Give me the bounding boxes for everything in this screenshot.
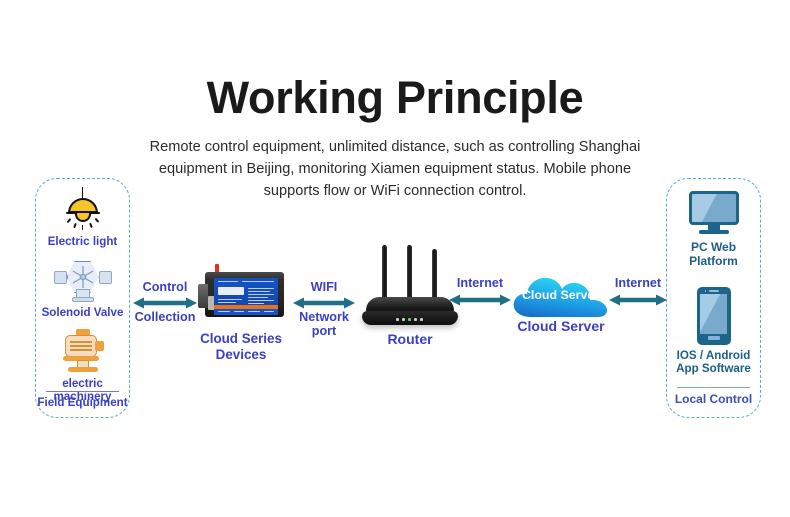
connector-top-label: WIFI [291, 280, 357, 294]
bidirectional-arrow-icon [607, 292, 669, 308]
page-subtitle: Remote control equipment, unlimited dist… [135, 136, 655, 202]
connector-gateway-to-router: WIFI Network port [291, 280, 357, 340]
connector-top-label: Internet [607, 276, 669, 290]
monitor-icon [687, 191, 741, 235]
diagram-canvas: Working Principle Remote control equipme… [0, 0, 790, 517]
bidirectional-arrow-icon [291, 295, 357, 311]
smartphone-icon [697, 287, 731, 345]
pendant-lamp-icon [60, 187, 106, 231]
electric-motor-icon [57, 329, 109, 375]
connector-bottom-label: Network port [291, 310, 357, 338]
field-item-label: Electric light [36, 235, 129, 248]
page-title: Working Principle [0, 72, 790, 124]
bidirectional-arrow-icon [447, 292, 513, 308]
local-control-panel: PC Web Platform IOS / Android App Softwa… [666, 178, 761, 418]
connector-bottom-label: Collection [131, 310, 199, 324]
field-equipment-panel: Electric light Solenoid Valve [35, 178, 130, 418]
local-item-app-software[interactable]: IOS / Android App Software [667, 287, 760, 375]
left-panel-divider [46, 391, 119, 392]
solenoid-valve-icon [54, 257, 112, 303]
local-control-footer-label: Local Control [667, 393, 760, 406]
connector-field-to-gateway: Control Collection [131, 280, 199, 326]
connector-top-label: Internet [447, 276, 513, 290]
connector-router-to-cloud: Internet [447, 276, 513, 316]
local-item-label: IOS / Android App Software [667, 349, 760, 375]
right-panel-divider [677, 387, 750, 388]
valve-star-detail [69, 263, 97, 291]
field-item-label: Solenoid Valve [36, 306, 129, 319]
connector-cloud-to-local: Internet [607, 276, 669, 316]
field-item-electric-light[interactable]: Electric light [36, 187, 129, 248]
router-label: Router [360, 333, 460, 346]
field-equipment-footer-label: Field Equipment [36, 396, 129, 409]
cloud-server-label: Cloud Server [506, 320, 616, 333]
cloud-server-icon[interactable]: Cloud Server [511, 274, 610, 318]
bidirectional-arrow-icon [131, 295, 199, 311]
gateway-device-label: Cloud Series Devices [186, 331, 296, 363]
cloud-inner-label: Cloud Server [511, 288, 610, 302]
wifi-router-icon[interactable] [360, 245, 460, 330]
gateway-device-icon[interactable] [198, 272, 284, 324]
local-item-pc-web-platform[interactable]: PC Web Platform [667, 191, 760, 268]
local-item-label: PC Web Platform [667, 240, 760, 268]
field-item-solenoid-valve[interactable]: Solenoid Valve [36, 257, 129, 319]
connector-top-label: Control [131, 280, 199, 294]
